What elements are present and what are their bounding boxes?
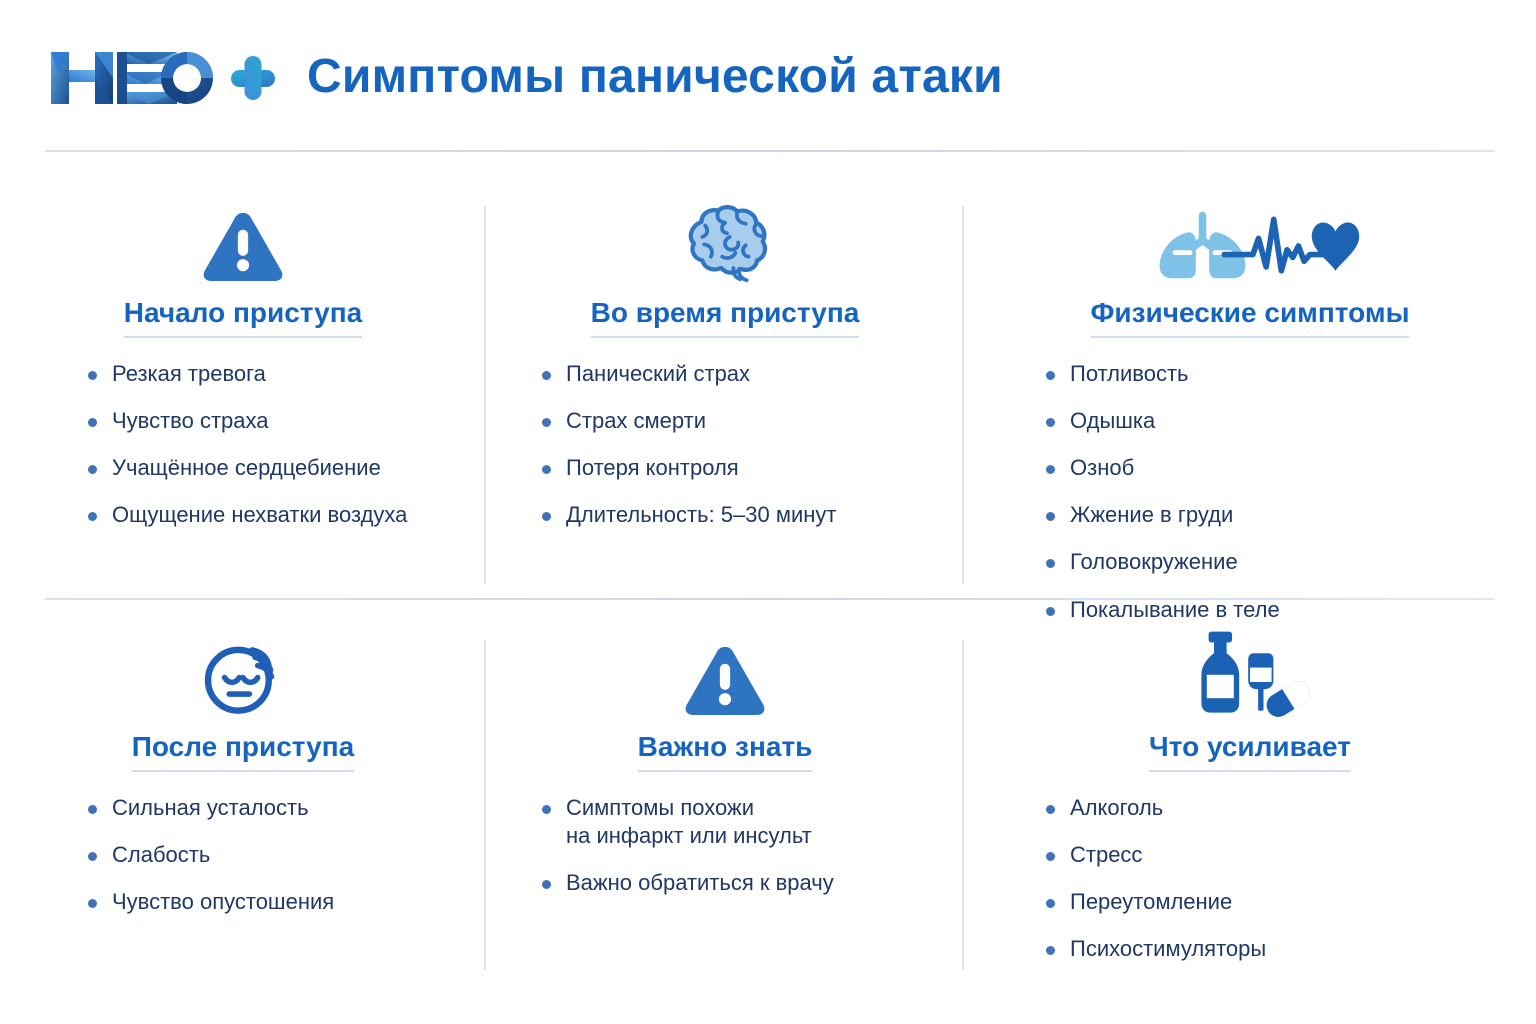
list-item: Ощущение нехватки воздуха <box>84 501 486 529</box>
brain-icon <box>673 198 777 284</box>
list-item: Потливость <box>1042 360 1536 388</box>
card-title: Начало приступа <box>124 298 363 338</box>
list-item: Одышка <box>1042 407 1536 435</box>
card-after-attack: После приступа Сильная усталость Слабост… <box>0 612 486 982</box>
cards-grid: Начало приступа Резкая тревога Чувство с… <box>0 160 1536 990</box>
list-item: Головокружение <box>1042 548 1536 576</box>
list-item: Алкоголь <box>1042 794 1536 822</box>
card-title: Физические симптомы <box>1091 298 1410 338</box>
list-item: Психостимуляторы <box>1042 935 1536 963</box>
card-title: Что усиливает <box>1149 732 1351 772</box>
symptom-list: Потливость Одышка Озноб Жжение в груди Г… <box>964 360 1536 643</box>
card-title: Во время приступа <box>591 298 860 338</box>
page-title: Симптомы панической атаки <box>307 53 1003 101</box>
card-during-attack: Во время приступа Панический страх Страх… <box>486 178 964 598</box>
list-item: Важно обратиться к врачу <box>538 869 964 897</box>
list-item: Озноб <box>1042 454 1536 482</box>
list-item: Резкая тревога <box>84 360 486 388</box>
list-item: Чувство страха <box>84 407 486 435</box>
list-item: Учащённое сердцебиение <box>84 454 486 482</box>
list-item: Жжение в груди <box>1042 501 1536 529</box>
card-title: После приступа <box>132 732 354 772</box>
warning-triangle-icon <box>201 198 285 284</box>
symptom-list: Алкоголь Стресс Переутомление Психостиму… <box>964 794 1536 983</box>
card-start-of-attack: Начало приступа Резкая тревога Чувство с… <box>0 178 486 598</box>
list-item: Стресс <box>1042 841 1536 869</box>
list-item: Длительность: 5–30 минут <box>538 501 964 529</box>
list-item: Симптомы похожи на инфаркт или инсульт <box>538 794 964 850</box>
card-what-aggravates: Что усиливает Алкоголь Стресс Переутомле… <box>964 612 1536 982</box>
list-item: Потеря контроля <box>538 454 964 482</box>
header-divider <box>45 150 1495 152</box>
list-item: Переутомление <box>1042 888 1536 916</box>
symptom-list: Симптомы похожи на инфаркт или инсульт В… <box>486 794 964 916</box>
cross-icon <box>231 56 275 100</box>
bottle-glass-pill-icon <box>1187 632 1313 718</box>
list-item: Чувство опустошения <box>84 888 486 916</box>
logo-letter-h <box>51 52 113 104</box>
list-item: Страх смерти <box>538 407 964 435</box>
page-header: Симптомы панической атаки <box>0 0 1536 152</box>
symptom-list: Панический страх Страх смерти Потеря кон… <box>486 360 964 549</box>
lungs-heartbeat-heart-icon <box>1131 198 1369 284</box>
brand-logo <box>45 42 277 114</box>
tired-face-icon <box>197 632 289 718</box>
card-important-to-know: Важно знать Симптомы похожи на инфаркт и… <box>486 612 964 982</box>
cards-row-bottom: После приступа Сильная усталость Слабост… <box>0 612 1536 982</box>
logo-letter-o <box>161 52 213 104</box>
list-item: Слабость <box>84 841 486 869</box>
card-title: Важно знать <box>638 732 813 772</box>
warning-triangle-icon <box>683 632 767 718</box>
card-physical-symptoms: Физические симптомы Потливость Одышка Оз… <box>964 178 1536 598</box>
cards-row-top: Начало приступа Резкая тревога Чувство с… <box>0 178 1536 598</box>
list-item: Сильная усталость <box>84 794 486 822</box>
list-item: Панический страх <box>538 360 964 388</box>
symptom-list: Резкая тревога Чувство страха Учащённое … <box>0 360 486 549</box>
symptom-list: Сильная усталость Слабость Чувство опуст… <box>0 794 486 935</box>
